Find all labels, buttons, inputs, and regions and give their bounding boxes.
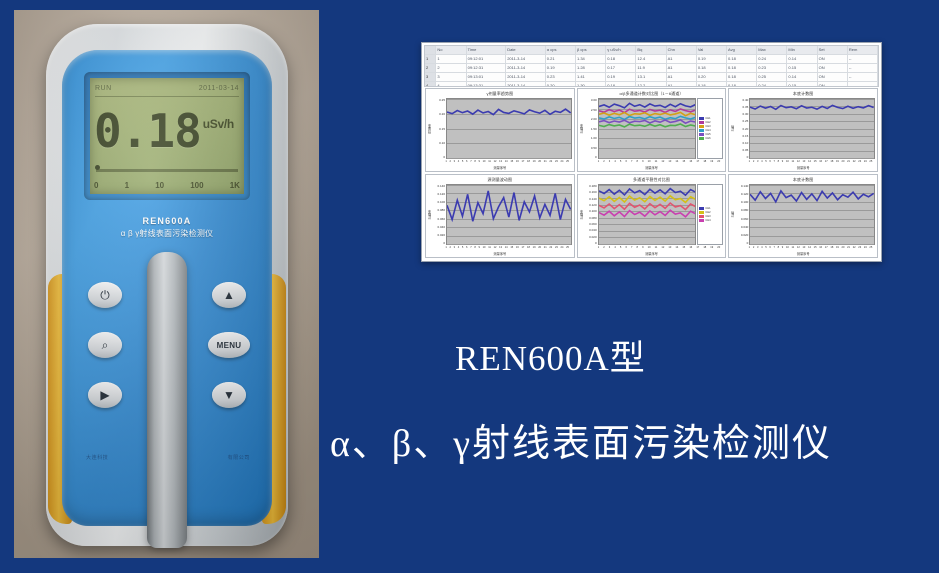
chart-series-line <box>447 191 571 221</box>
row-index-cell <box>425 46 436 54</box>
column-header-cell: Date <box>506 46 546 54</box>
data-cell: 2 <box>436 64 466 72</box>
spreadsheet-row: 1109:12:012011-3-140.211.340.1812.4A10.1… <box>425 55 878 64</box>
chart-series-layer <box>750 99 874 158</box>
data-cell: 0.19 <box>606 73 636 81</box>
data-cell: 0.18 <box>697 82 727 87</box>
software-screenshot-panel: NoTimeDateα cpsβ cpsγ uSv/hBqChnValAvgMa… <box>421 42 882 262</box>
data-cell: -- <box>848 82 878 87</box>
chart-y-ticks: 0.250.200.150.100 <box>432 98 446 159</box>
data-cell: 12.4 <box>636 55 666 63</box>
lcd-status-left: RUN <box>95 85 112 92</box>
y-tick-label: 0.40 <box>735 98 748 102</box>
data-cell: 0.21 <box>546 55 576 63</box>
data-cell: 09:13:01 <box>467 73 507 81</box>
data-cell: 13.1 <box>636 73 666 81</box>
chart-body: 计数率0.1400.1200.1000.0800.0600.0400.0200 <box>426 184 574 246</box>
lcd-status-right: 2011-03-14 <box>199 85 239 92</box>
y-tick-label: 0.30 <box>735 112 748 116</box>
chart-y-axis-label: 计数率 <box>579 210 584 220</box>
lcd-unit: uSv/h <box>203 117 234 131</box>
data-cell: 3 <box>436 73 466 81</box>
chart-y-axis-label: 计数率 <box>579 124 584 134</box>
chart-body: 计数0.1400.1200.1000.0800.0600.0400.0200 <box>729 184 877 246</box>
chart-title: 源测量波动图 <box>426 175 574 184</box>
data-cell: -- <box>848 55 878 63</box>
y-tick-label: 0.35 <box>735 105 748 109</box>
chart-series-layer <box>599 99 696 158</box>
y-tick-label: 0 <box>735 155 748 159</box>
y-tick-label: 0.15 <box>735 134 748 138</box>
chart-series-layer <box>750 185 874 244</box>
chart-y-ticks: 0.1400.1200.1000.0800.0600.0400.0200 <box>735 184 749 245</box>
chart-y-axis-label: 计数率 <box>427 210 432 220</box>
column-header-cell: Max <box>757 46 787 54</box>
data-cell: ON <box>818 55 848 63</box>
legend-swatch <box>699 215 704 218</box>
column-header-cell: Val <box>697 46 727 54</box>
chart-panel: 本底计数图计数0.400.350.300.250.200.150.100.050… <box>728 88 878 172</box>
y-tick-label: 1.00 <box>584 136 597 140</box>
data-cell: 09:12:01 <box>467 55 507 63</box>
y-tick-label: 0.25 <box>735 119 748 123</box>
data-cell: 0.18 <box>727 73 757 81</box>
lcd-status-bar: RUN 2011-03-14 <box>95 82 239 95</box>
y-tick-label: 1.50 <box>584 127 597 131</box>
chart-plot-area <box>749 98 875 159</box>
menu-button-label: MENU <box>217 341 242 350</box>
data-cell: A1 <box>667 55 697 63</box>
chart-series-line <box>599 112 696 115</box>
data-cell: 1.28 <box>576 64 606 72</box>
chart-plot-area <box>749 184 875 245</box>
data-cell: 2011-3-14 <box>506 55 546 63</box>
lcd-scale: 0 1 10 100 1K <box>94 179 240 191</box>
chart-x-axis-label: 测量序号 <box>426 165 574 171</box>
chart-body: 计数率3.002.502.001.501.000.500CH1CH2CH3CH4… <box>578 98 726 160</box>
chart-panel: α/β多通道计数对比图（1－6通道）计数率3.002.502.001.501.0… <box>577 88 727 172</box>
down-button[interactable]: ▼ <box>212 382 246 408</box>
data-cell: 0.20 <box>697 73 727 81</box>
y-tick-label: 0.080 <box>735 208 748 212</box>
column-header-cell: Avg <box>727 46 757 54</box>
play-button[interactable]: ▶ <box>88 382 122 408</box>
y-tick-label: 0.100 <box>735 200 748 204</box>
column-header-cell: Bq <box>636 46 666 54</box>
data-cell: 0.24 <box>757 82 787 87</box>
y-tick-label: 0.160 <box>584 190 597 194</box>
column-header-cell: Set <box>818 46 848 54</box>
slide-background: RUN 2011-03-14 0.18 uSv/h 0 1 <box>0 0 939 573</box>
chart-panel: 本底计数图计数0.1400.1200.1000.0800.0600.0400.0… <box>728 174 878 258</box>
legend-label: CH6 <box>705 137 710 140</box>
chart-x-axis-label: 测量序号 <box>578 165 726 171</box>
y-tick-label: 0.180 <box>584 184 597 188</box>
y-tick-label: 0.20 <box>735 127 748 131</box>
device-footer-left: 大连科技 <box>86 454 108 461</box>
y-tick-label: 0.50 <box>584 146 597 150</box>
y-tick-label: 0.040 <box>432 225 445 229</box>
chart-series-layer <box>447 99 571 158</box>
data-cell: 09:12:31 <box>467 64 507 72</box>
column-header-cell: Time <box>467 46 507 54</box>
y-tick-label: 0 <box>432 241 445 245</box>
device-sub-label: α β γ射线表面污染检测仪 <box>62 228 272 239</box>
column-header-cell: β cps <box>576 46 606 54</box>
data-cell: -- <box>848 73 878 81</box>
data-cell: 1 <box>436 55 466 63</box>
y-tick-label: 0.100 <box>584 209 597 213</box>
lcd-value: 0.18 <box>94 108 201 154</box>
chart-series-layer <box>447 185 571 244</box>
chart-grid: γ剂量率趋势图剂量率0.250.200.150.1001234567891011… <box>425 88 878 258</box>
device-model-label: REN600A <box>62 216 272 226</box>
power-icon: ⏻ <box>100 289 110 301</box>
y-tick-label: 0 <box>432 155 445 159</box>
y-tick-label: 0.05 <box>735 148 748 152</box>
y-tick-label: 0.040 <box>584 228 597 232</box>
device-handle <box>147 252 187 548</box>
column-header-cell: γ uSv/h <box>606 46 636 54</box>
chart-x-axis-label: 测量序号 <box>426 251 574 257</box>
data-cell: 1.34 <box>576 55 606 63</box>
lcd-scale-tick: 10 <box>155 181 164 190</box>
chart-series-line <box>599 116 696 119</box>
y-tick-label: 0.060 <box>584 222 597 226</box>
data-spreadsheet[interactable]: NoTimeDateα cpsβ cpsγ uSv/hBqChnValAvgMa… <box>424 45 879 87</box>
chart-title: γ剂量率趋势图 <box>426 89 574 98</box>
chart-title: 本底计数图 <box>729 89 877 98</box>
spreadsheet-header-row: NoTimeDateα cpsβ cpsγ uSv/hBqChnValAvgMa… <box>425 46 878 55</box>
column-header-cell: No <box>436 46 466 54</box>
y-tick-label: 0.20 <box>432 112 445 116</box>
y-tick-label: 0.10 <box>735 141 748 145</box>
y-tick-label: 0 <box>735 241 748 245</box>
legend-swatch <box>699 133 704 136</box>
device-shell: RUN 2011-03-14 0.18 uSv/h 0 1 <box>46 24 288 546</box>
y-tick-label: 0.060 <box>735 217 748 221</box>
y-tick-label: 0 <box>584 241 597 245</box>
chart-panel: 源测量波动图计数率0.1400.1200.1000.0800.0600.0400… <box>425 174 575 258</box>
y-tick-label: 2.50 <box>584 108 597 112</box>
chart-plot-area <box>446 184 572 245</box>
data-cell: -- <box>848 64 878 72</box>
lcd-bezel: RUN 2011-03-14 0.18 uSv/h 0 1 <box>84 72 250 200</box>
lcd-scale-tick: 0 <box>94 181 98 190</box>
lcd-reading: 0.18 uSv/h <box>94 100 240 162</box>
chart-series-line <box>599 210 696 217</box>
chart-plot-area <box>446 98 572 159</box>
y-tick-label: 0.020 <box>735 233 748 237</box>
chart-body: 计数0.400.350.300.250.200.150.100.050 <box>729 98 877 160</box>
chart-panel: 多通道平稳性对比图计数率0.1800.1600.1400.1200.1000.0… <box>577 174 727 258</box>
data-cell: 0.18 <box>606 82 636 87</box>
y-tick-label: 0.25 <box>432 98 445 102</box>
chart-series-line <box>599 103 696 108</box>
legend-item: CH6 <box>699 137 721 141</box>
column-header-cell: α cps <box>546 46 576 54</box>
legend-label: CH4 <box>705 219 710 222</box>
y-tick-label: 0.140 <box>735 184 748 188</box>
data-cell: A1 <box>667 73 697 81</box>
chart-legend: CH1CH2CH3CH4CH5CH6 <box>697 98 723 159</box>
up-button[interactable]: ▲ <box>212 282 246 308</box>
chart-series-line <box>599 203 696 210</box>
legend-item: CH4 <box>699 219 721 223</box>
chevron-down-icon: ▼ <box>223 389 235 401</box>
lcd-bargraph <box>96 169 238 172</box>
data-cell: 0.19 <box>697 55 727 63</box>
data-cell: 11.9 <box>636 64 666 72</box>
chart-y-axis-label: 计数 <box>730 211 735 217</box>
data-cell: 0.19 <box>546 64 576 72</box>
page-title: REN600A型 <box>455 330 925 381</box>
y-tick-label: 0 <box>584 155 597 159</box>
y-tick-label: 0.15 <box>432 127 445 131</box>
chart-x-axis-label: 测量序号 <box>729 165 877 171</box>
data-cell: 0.14 <box>787 55 817 63</box>
row-index-cell: 3 <box>425 73 436 81</box>
legend-swatch <box>699 129 704 132</box>
y-tick-label: 0.020 <box>432 233 445 237</box>
power-button[interactable]: ⏻ <box>88 282 122 308</box>
product-photo: RUN 2011-03-14 0.18 uSv/h 0 1 <box>14 10 319 558</box>
y-tick-label: 0.120 <box>584 203 597 207</box>
chart-y-axis-label: 计数 <box>730 125 735 131</box>
data-cell: 4 <box>436 82 466 87</box>
lcd-scale-tick: 1 <box>125 181 129 190</box>
data-cell: 0.24 <box>757 55 787 63</box>
chart-series-line <box>599 124 696 127</box>
chart-body: 计数率0.1800.1600.1400.1200.1000.0800.0600.… <box>578 184 726 246</box>
data-cell: 0.18 <box>727 64 757 72</box>
legend-swatch <box>699 207 704 210</box>
data-cell: 0.18 <box>727 82 757 87</box>
chart-series-line <box>750 105 874 109</box>
legend-swatch <box>699 125 704 128</box>
data-cell: 0.18 <box>606 55 636 63</box>
row-index-cell: 4 <box>425 82 436 87</box>
y-tick-label: 0.120 <box>432 192 445 196</box>
search-button[interactable]: ⌕ <box>88 332 122 358</box>
legend-swatch <box>699 137 704 140</box>
spreadsheet-row: 3309:13:012011-3-140.231.410.1913.1A10.2… <box>425 73 878 82</box>
data-cell: ON <box>818 73 848 81</box>
chart-panel: γ剂量率趋势图剂量率0.250.200.150.1001234567891011… <box>425 88 575 172</box>
data-cell: 09:13:31 <box>467 82 507 87</box>
search-icon: ⌕ <box>102 339 109 351</box>
chart-y-ticks: 0.1400.1200.1000.0800.0600.0400.0200 <box>432 184 446 245</box>
y-tick-label: 0.080 <box>584 216 597 220</box>
chart-series-line <box>599 120 696 123</box>
chart-body: 剂量率0.250.200.150.100 <box>426 98 574 160</box>
chart-series-line <box>750 191 874 202</box>
chart-title: 多通道平稳性对比图 <box>578 175 726 184</box>
device-footer-right: 有限公司 <box>228 454 250 461</box>
data-cell: 2011-3-14 <box>506 82 546 87</box>
data-cell: 0.14 <box>787 73 817 81</box>
y-tick-label: 0.120 <box>735 192 748 196</box>
column-header-cell: Rem <box>848 46 878 54</box>
data-cell: 0.23 <box>757 64 787 72</box>
chart-title: α/β多通道计数对比图（1－6通道） <box>578 89 726 98</box>
chart-plot-area <box>598 184 697 245</box>
data-cell: ON <box>818 82 848 87</box>
column-header-cell: Chn <box>667 46 697 54</box>
data-cell: 0.15 <box>787 64 817 72</box>
legend-swatch <box>699 121 704 124</box>
chart-title: 本底计数图 <box>729 175 877 184</box>
chart-y-ticks: 0.400.350.300.250.200.150.100.050 <box>735 98 749 159</box>
lcd-scale-tick: 1K <box>230 181 240 190</box>
lcd-screen: RUN 2011-03-14 0.18 uSv/h 0 1 <box>90 78 244 194</box>
chart-series-line <box>599 196 696 203</box>
data-cell: 0.17 <box>606 64 636 72</box>
spreadsheet-row: 2209:12:312011-3-140.191.280.1711.9A10.1… <box>425 64 878 73</box>
play-icon: ▶ <box>100 389 109 401</box>
lcd-divider <box>95 96 239 97</box>
data-cell: 0.25 <box>757 73 787 81</box>
chart-series-layer <box>599 185 696 244</box>
page-subtitle: α、β、γ射线表面污染检测仪 <box>330 412 930 467</box>
menu-button[interactable]: MENU <box>208 332 250 358</box>
row-index-cell: 2 <box>425 64 436 72</box>
chart-x-axis-label: 测量序号 <box>729 251 877 257</box>
data-cell: 0.23 <box>546 73 576 81</box>
legend-swatch <box>699 117 704 120</box>
data-cell: A1 <box>667 64 697 72</box>
chart-y-ticks: 3.002.502.001.501.000.500 <box>584 98 598 159</box>
chart-y-axis-label: 剂量率 <box>427 124 432 134</box>
chart-series-line <box>447 109 571 114</box>
device-nameplate: REN600A α β γ射线表面污染检测仪 <box>62 216 272 239</box>
data-cell: 0.18 <box>727 55 757 63</box>
chart-x-axis-label: 测量序号 <box>578 251 726 257</box>
data-cell: ON <box>818 64 848 72</box>
data-cell: 0.18 <box>697 64 727 72</box>
y-tick-label: 2.00 <box>584 117 597 121</box>
legend-swatch <box>699 211 704 214</box>
column-header-cell: Min <box>787 46 817 54</box>
data-cell: 1.41 <box>576 73 606 81</box>
data-cell: 0.20 <box>546 82 576 87</box>
y-tick-label: 0.020 <box>584 235 597 239</box>
y-tick-label: 0.140 <box>584 197 597 201</box>
y-tick-label: 0.080 <box>432 208 445 212</box>
row-index-cell: 1 <box>425 55 436 63</box>
chevron-up-icon: ▲ <box>223 289 235 301</box>
legend-swatch <box>699 219 704 222</box>
data-cell: 1.30 <box>576 82 606 87</box>
data-cell: 12.2 <box>636 82 666 87</box>
y-tick-label: 0.140 <box>432 184 445 188</box>
data-cell: 2011-3-14 <box>506 64 546 72</box>
lcd-scale-tick: 100 <box>190 181 203 190</box>
data-cell: 0.15 <box>787 82 817 87</box>
chart-y-ticks: 0.1800.1600.1400.1200.1000.0800.0600.040… <box>584 184 598 245</box>
y-tick-label: 0.100 <box>432 200 445 204</box>
data-cell: 2011-3-14 <box>506 73 546 81</box>
chart-plot-area <box>598 98 697 159</box>
spreadsheet-row: 4409:13:312011-3-140.201.300.1812.2A10.1… <box>425 82 878 87</box>
data-cell: A1 <box>667 82 697 87</box>
y-tick-label: 0.10 <box>432 141 445 145</box>
y-tick-label: 0.040 <box>735 225 748 229</box>
chart-series-line <box>599 189 696 196</box>
chart-legend: CH1CH2CH3CH4 <box>697 184 723 245</box>
y-tick-label: 0.060 <box>432 217 445 221</box>
y-tick-label: 3.00 <box>584 98 597 102</box>
